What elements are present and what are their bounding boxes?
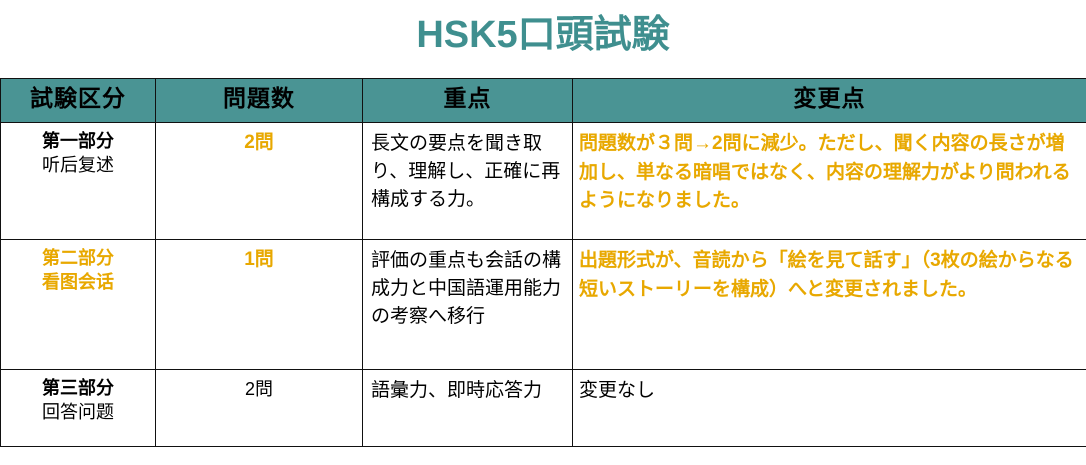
change-text: 変更なし — [573, 370, 1086, 410]
division-block: 第一部分 听后复述 — [1, 123, 155, 182]
document-page: HSK5口頭試験 試験区分 問題数 重点 変更点 第一部分 听后复述 — [0, 0, 1086, 465]
change-text: 出題形式が、音読から「絵を見て話す」（3枚の絵からなる短いストーリーを構成）へと… — [573, 240, 1086, 308]
division-name-jp: 第三部分 — [7, 377, 149, 401]
cell-focus: 評価の重点も会話の構成力と中国語運用能力の考察へ移行 — [363, 240, 573, 370]
division-block: 第三部分 回答问题 — [1, 370, 155, 429]
question-count-value: 1問 — [156, 240, 362, 277]
table-header-row: 試験区分 問題数 重点 変更点 — [1, 79, 1086, 123]
division-block: 第二部分 看图会话 — [1, 240, 155, 299]
question-count-value: 2問 — [156, 370, 362, 405]
division-name-cn: 听后复述 — [7, 154, 149, 178]
table-row: 第三部分 回答问题 2問 語彙力、即時応答力 変更なし — [1, 370, 1086, 447]
cell-division: 第三部分 回答问题 — [1, 370, 156, 447]
column-header-changes: 変更点 — [573, 79, 1086, 123]
page-title: HSK5口頭試験 — [0, 6, 1086, 64]
table-row: 第二部分 看图会话 1問 評価の重点も会話の構成力と中国語運用能力の考察へ移行 … — [1, 240, 1086, 370]
cell-changes: 出題形式が、音読から「絵を見て話す」（3枚の絵からなる短いストーリーを構成）へと… — [573, 240, 1086, 370]
cell-question-count: 2問 — [156, 370, 363, 447]
cell-question-count: 2問 — [156, 123, 363, 240]
division-name-cn: 回答问题 — [7, 401, 149, 425]
cell-focus: 長文の要点を聞き取り、理解し、正確に再構成する力。 — [363, 123, 573, 240]
column-header-division: 試験区分 — [1, 79, 156, 123]
exam-comparison-table: 試験区分 問題数 重点 変更点 第一部分 听后复述 2問 長文の要点を聞き取り、… — [0, 78, 1086, 447]
cell-changes: 問題数が３問→2問に減少。ただし、聞く内容の長さが増加し、単なる暗唱ではなく、内… — [573, 123, 1086, 240]
division-name-jp: 第一部分 — [7, 130, 149, 154]
cell-division: 第二部分 看图会话 — [1, 240, 156, 370]
cell-division: 第一部分 听后复述 — [1, 123, 156, 240]
focus-text: 長文の要点を聞き取り、理解し、正確に再構成する力。 — [363, 123, 572, 218]
change-text: 問題数が３問→2問に減少。ただし、聞く内容の長さが増加し、単なる暗唱ではなく、内… — [573, 123, 1086, 220]
cell-question-count: 1問 — [156, 240, 363, 370]
focus-text: 語彙力、即時応答力 — [363, 370, 572, 409]
question-count-value: 2問 — [156, 123, 362, 160]
table-row: 第一部分 听后复述 2問 長文の要点を聞き取り、理解し、正確に再構成する力。 問… — [1, 123, 1086, 240]
focus-text: 評価の重点も会話の構成力と中国語運用能力の考察へ移行 — [363, 240, 572, 335]
cell-focus: 語彙力、即時応答力 — [363, 370, 573, 447]
column-header-focus: 重点 — [363, 79, 573, 123]
division-name-cn: 看图会话 — [7, 271, 149, 295]
division-name-jp: 第二部分 — [7, 247, 149, 271]
cell-changes: 変更なし — [573, 370, 1086, 447]
column-header-question-count: 問題数 — [156, 79, 363, 123]
